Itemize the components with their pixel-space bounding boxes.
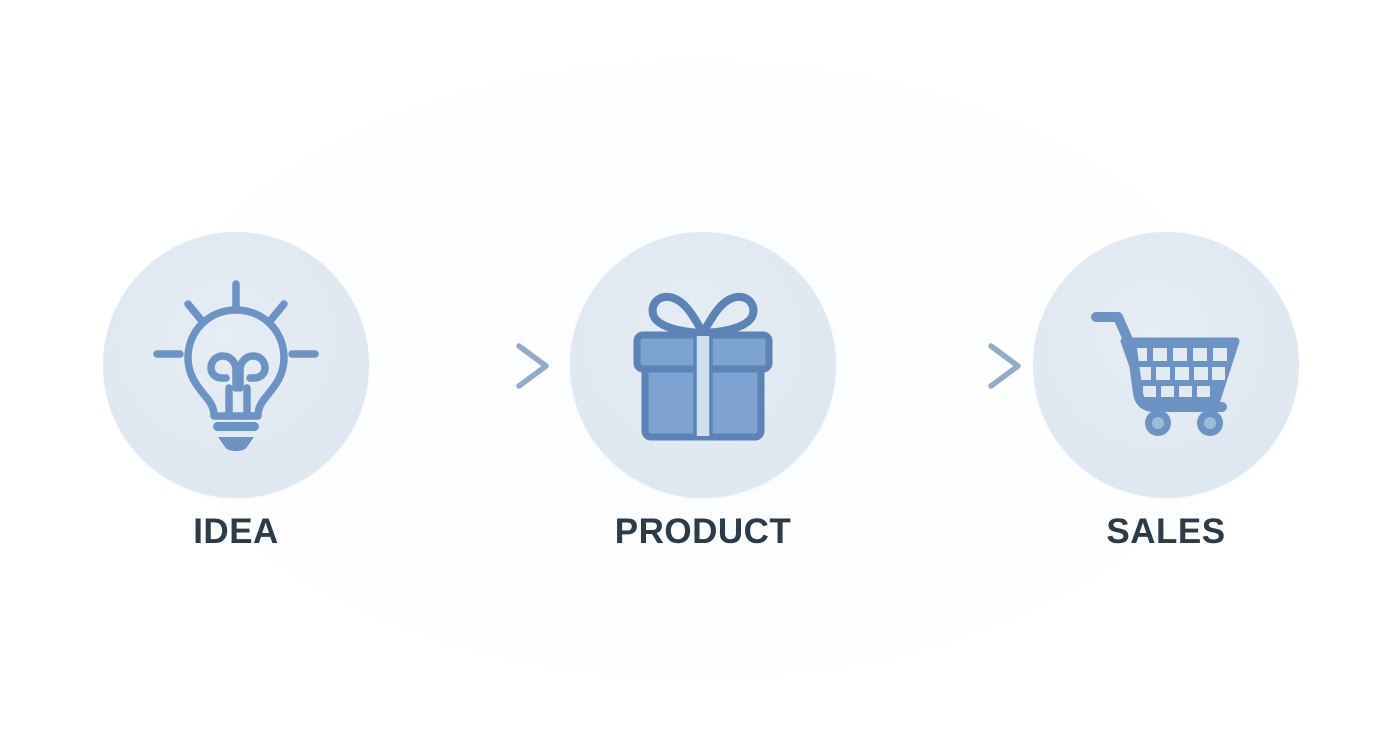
arrow-right-icon [838, 341, 1034, 391]
process-flow: IDEA [0, 0, 1392, 752]
flow-step-label-sales: SALES [1106, 514, 1225, 549]
gift-box-icon [613, 275, 793, 455]
flow-connector-product-to-sales [838, 341, 1034, 391]
flow-step-label-idea: IDEA [193, 514, 279, 549]
flow-step-product[interactable]: PRODUCT [543, 232, 863, 549]
flow-step-idea[interactable]: IDEA [76, 232, 396, 549]
icon-circle-idea [103, 232, 369, 498]
flow-step-sales[interactable]: SALES [1006, 232, 1326, 549]
icon-circle-product [570, 232, 836, 498]
diagram-canvas: IDEA [0, 0, 1392, 752]
arrow-right-icon [366, 341, 562, 391]
flow-connector-idea-to-product [366, 341, 562, 391]
flow-step-label-product: PRODUCT [615, 514, 792, 549]
lightbulb-icon [141, 270, 331, 460]
icon-circle-sales [1033, 232, 1299, 498]
shopping-cart-icon [1076, 275, 1256, 455]
